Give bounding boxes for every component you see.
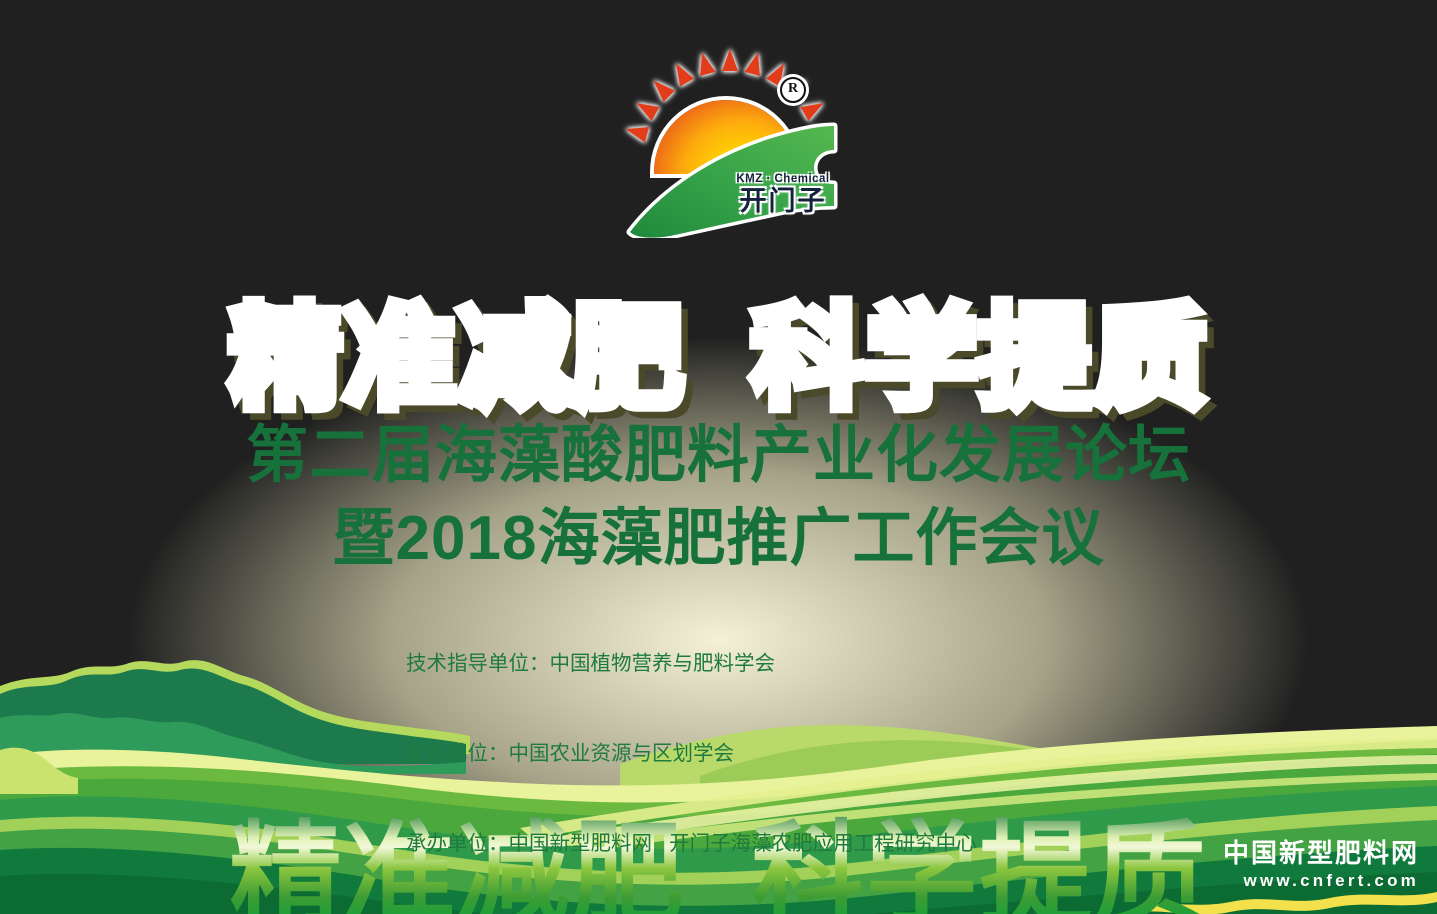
site-watermark: 中国新型肥料网 www.cnfert.com	[1223, 839, 1419, 890]
registered-trademark-icon: R	[777, 74, 809, 106]
credit-line-organizer: 主办单位：中国农业资源与区划学会	[406, 739, 1020, 769]
banner-subtitle-1: 第二届海藻酸肥料产业化发展论坛	[0, 404, 1437, 494]
logo-chinese-name: 开门子	[728, 188, 838, 215]
sun-ray-triangle-icon	[722, 49, 738, 71]
kaimenzi-logo: KMZ · Chemical 开门子	[610, 62, 850, 252]
sun-ray-triangle-icon	[669, 59, 694, 86]
sun-ray-triangle-icon	[632, 96, 659, 121]
credit-line-technical-guidance: 技术指导单位：中国植物营养与肥料学会	[406, 649, 1020, 679]
watermark-url: www.cnfert.com	[1223, 871, 1419, 890]
credit-line-undertaker: 承办单位：中国新型肥料网 开门子海藻农肥应用工程研究中心	[406, 829, 1020, 859]
banner-subtitle-2: 暨2018海藻肥推广工作会议	[0, 487, 1437, 577]
registered-mark-letter: R	[780, 77, 806, 103]
logo-latin-name: KMZ · Chemical	[728, 174, 838, 186]
conference-banner: KMZ · Chemical 开门子 R 精准减肥 科学提质 精准减肥 科学提质…	[0, 0, 1437, 914]
watermark-site-name: 中国新型肥料网	[1223, 839, 1419, 868]
credits-block: 技术指导单位：中国植物营养与肥料学会 主办单位：中国农业资源与区划学会 承办单位…	[406, 589, 1020, 914]
sun-ray-triangle-icon	[648, 75, 675, 102]
logo-wordmark: KMZ · Chemical 开门子	[728, 174, 838, 215]
